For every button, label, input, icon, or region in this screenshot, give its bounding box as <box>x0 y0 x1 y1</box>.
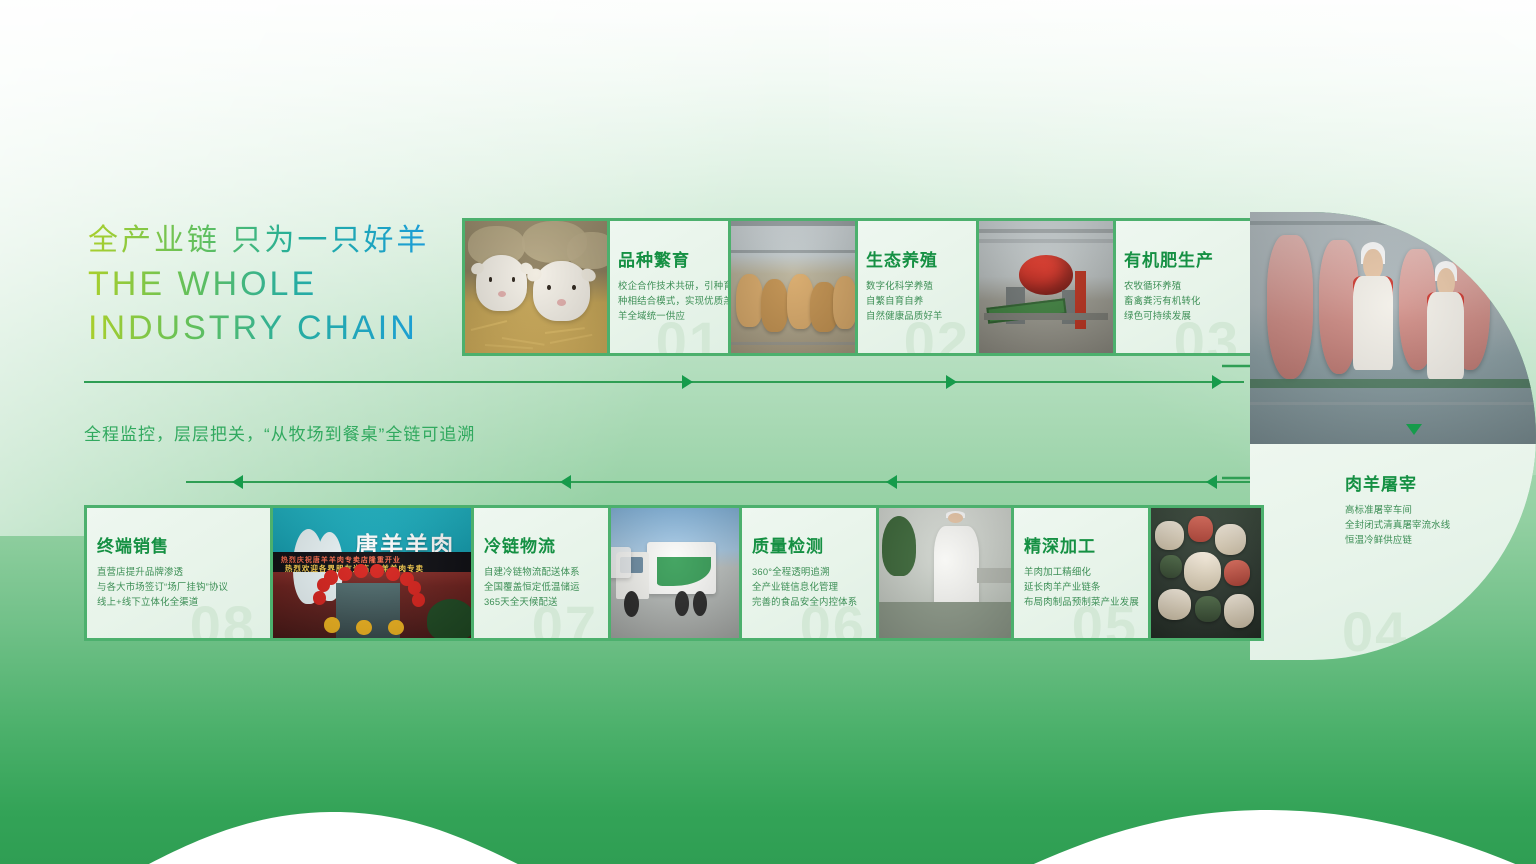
step-card-08[interactable]: 终端销售 直营店提升品牌渗透 与各大市场签订“场厂挂钩”协议 线上+线下立体化全… <box>84 505 270 641</box>
step-card-03[interactable]: 有机肥生产 农牧循环养殖 畜禽粪污有机转化 绿色可持续发展 03 <box>1116 218 1262 356</box>
step-number-01: 01 <box>656 314 722 356</box>
arrow-head-right-1 <box>682 375 693 389</box>
step-card-06[interactable]: 质量检测 360°全程透明追溯 全产业链信息化管理 完善的食品安全内控体系 06 <box>742 505 876 641</box>
title-english-line2: INDUSTRY CHAIN <box>88 308 429 348</box>
page-title-block: 全产业链 只为一只好羊 THE WHOLE INDUSTRY CHAIN <box>88 222 429 348</box>
step-title-06: 质量检测 <box>752 532 876 557</box>
step-title-04: 肉羊屠宰 <box>1345 470 1536 495</box>
fertilizer-factory-photo <box>976 218 1116 356</box>
step-desc-04: 高标准屠宰车间 全封闭式清真屠宰流水线 恒温冷鲜供应链 <box>1345 502 1536 548</box>
lab-inspection-photo <box>876 505 1014 641</box>
step-row-top: 品种繁育 校企合作技术共研，引种育 种相结合模式，实现优质羔 羊全域统一供应 0… <box>462 218 1262 356</box>
step-title-07: 冷链物流 <box>484 532 608 557</box>
arrow-head-down-1 <box>1406 424 1422 435</box>
flow-arrows-bottom <box>186 474 1286 490</box>
infographic-canvas: 全产业链 只为一只好羊 THE WHOLE INDUSTRY CHAIN 全程监… <box>0 0 1536 864</box>
flow-arrows-top <box>84 374 1244 390</box>
step-number-04: 04 <box>1342 604 1408 660</box>
step-number-03: 03 <box>1174 314 1240 356</box>
slaughter-line-photo <box>1250 212 1536 444</box>
step-title-03: 有机肥生产 <box>1124 246 1262 271</box>
arrow-head-left-2 <box>560 475 571 489</box>
arrow-head-right-2 <box>946 375 957 389</box>
step-card-01[interactable]: 品种繁育 校企合作技术共研，引种育 种相结合模式，实现优质羔 羊全域统一供应 0… <box>610 218 728 356</box>
step-card-07[interactable]: 冷链物流 自建冷链物流配送体系 全国覆盖恒定低温储运 365天全天候配送 07 <box>474 505 608 641</box>
step-number-06: 06 <box>800 598 866 641</box>
step-card-05[interactable]: 精深加工 羊肉加工精细化 延长肉羊产业链条 布局肉制品预制菜产业发展 05 <box>1014 505 1148 641</box>
sheep-pen-photo <box>728 218 858 356</box>
arrow-head-left-1 <box>232 475 243 489</box>
arrow-head-left-3 <box>886 475 897 489</box>
step-endcap-04[interactable]: 肉羊屠宰 高标准屠宰车间 全封闭式清真屠宰流水线 恒温冷鲜供应链 04 <box>1250 212 1536 660</box>
title-english-line1: THE WHOLE <box>88 264 429 304</box>
title-chinese: 全产业链 只为一只好羊 <box>88 222 429 260</box>
arrow-head-left-4 <box>1206 475 1217 489</box>
step-number-07: 07 <box>532 598 598 641</box>
meat-products-photo <box>1148 505 1264 641</box>
lambs-photo <box>462 218 610 356</box>
step-number-08: 08 <box>190 598 256 641</box>
step-title-05: 精深加工 <box>1024 532 1148 557</box>
tagline-text: 全程监控，层层把关，“从牧场到餐桌”全链可追溯 <box>84 420 475 445</box>
step-card-02[interactable]: 生态养殖 数字化科学养殖 自繁自育自养 自然健康品质好羊 02 <box>858 218 976 356</box>
step-number-02: 02 <box>904 314 970 356</box>
step-title-01: 品种繁育 <box>618 246 728 271</box>
step-number-05: 05 <box>1072 598 1138 641</box>
cold-chain-trucks-photo <box>608 505 742 641</box>
step-title-02: 生态养殖 <box>866 246 976 271</box>
step-row-bottom: 终端销售 直营店提升品牌渗透 与各大市场签订“场厂挂钩”协议 线上+线下立体化全… <box>84 505 1264 641</box>
step-title-08: 终端销售 <box>97 532 270 557</box>
retail-store-photo: 唐羊羊肉 热烈庆祝唐羊羊肉专卖店隆重开业 热烈欢迎各界朋友光临 唐羊羊肉专卖 <box>270 505 474 641</box>
